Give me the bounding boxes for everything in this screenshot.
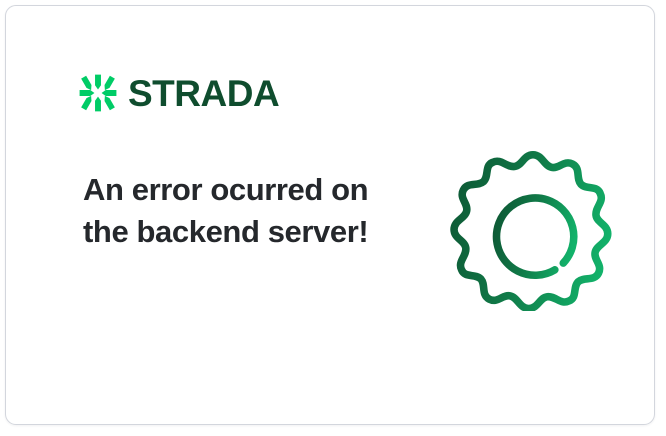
error-message: An error ocurred on the backend server! [83,169,383,253]
strada-asterisk-icon [79,74,117,112]
gear-icon [449,143,617,311]
brand-wordmark: STRADA [128,75,279,112]
error-card: STRADA An error ocurred on the backend s… [5,5,655,425]
brand-lockup: STRADA [79,74,279,112]
